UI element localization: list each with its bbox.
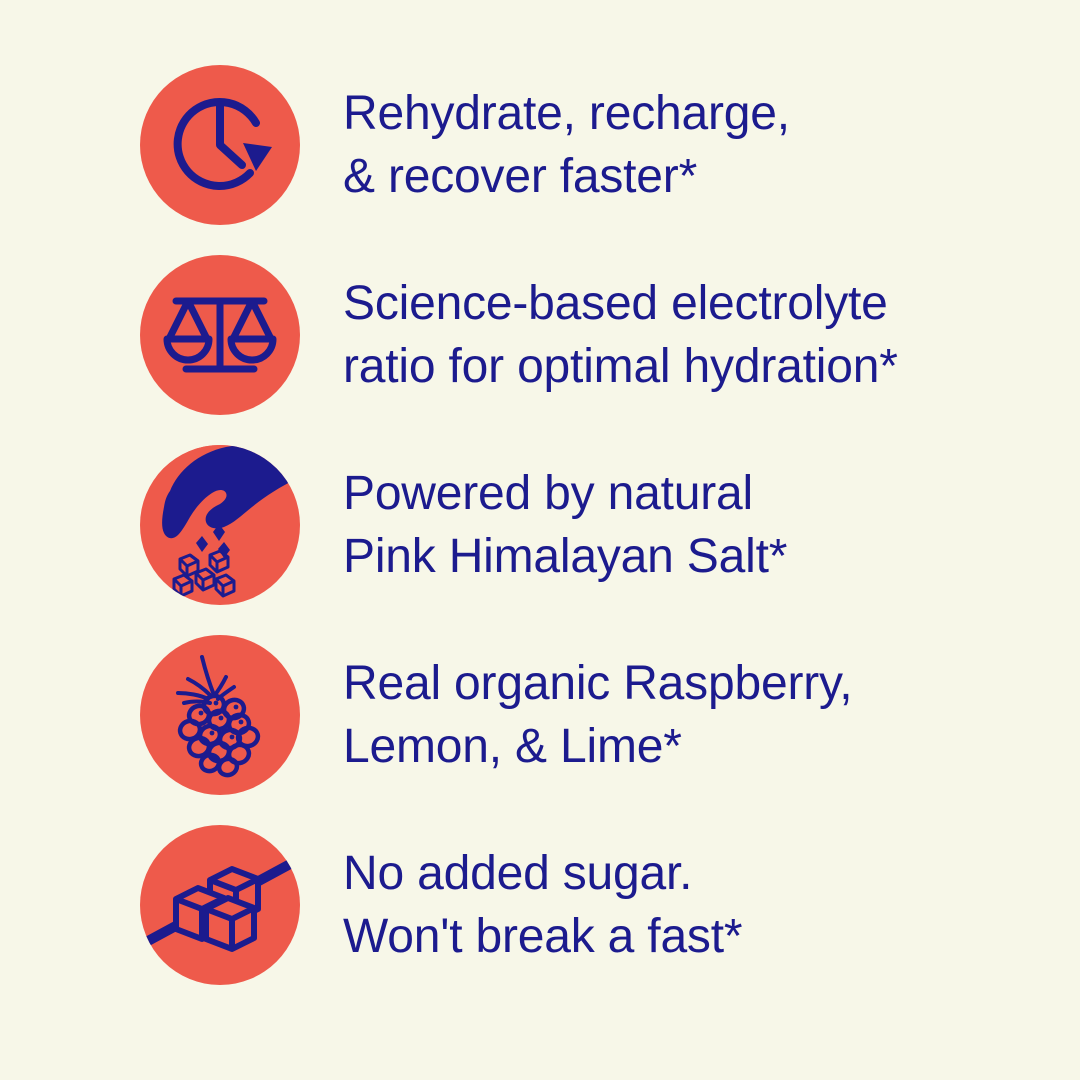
benefit-line-2: Won't break a fast*	[343, 905, 742, 968]
benefit-item-no-sugar: No added sugar. Won't break a fast*	[140, 825, 1040, 985]
benefit-item-himalayan-salt: Powered by natural Pink Himalayan Salt*	[140, 445, 1040, 605]
benefit-text-no-sugar: No added sugar. Won't break a fast*	[343, 842, 742, 968]
benefit-line-1: No added sugar.	[343, 842, 742, 905]
benefit-item-rehydrate: Rehydrate, recharge, & recover faster*	[140, 65, 1040, 225]
benefit-line-2: Lemon, & Lime*	[343, 715, 852, 778]
benefit-line-1: Powered by natural	[343, 462, 787, 525]
benefit-line-2: Pink Himalayan Salt*	[343, 525, 787, 588]
benefit-text-rehydrate: Rehydrate, recharge, & recover faster*	[343, 82, 790, 208]
benefit-text-himalayan-salt: Powered by natural Pink Himalayan Salt*	[343, 462, 787, 588]
benefit-line-1: Rehydrate, recharge,	[343, 82, 790, 145]
benefit-line-1: Science-based electrolyte	[343, 272, 898, 335]
benefit-item-real-fruit: Real organic Raspberry, Lemon, & Lime*	[140, 635, 1040, 795]
hand-sprinkling-salt-icon	[140, 445, 300, 605]
benefit-line-2: ratio for optimal hydration*	[343, 335, 898, 398]
benefit-list: Rehydrate, recharge, & recover faster*	[140, 65, 1040, 985]
clock-refresh-icon	[140, 65, 300, 225]
raspberry-icon	[140, 635, 300, 795]
benefit-text-electrolyte-ratio: Science-based electrolyte ratio for opti…	[343, 272, 898, 398]
benefit-line-1: Real organic Raspberry,	[343, 652, 852, 715]
benefit-line-2: & recover faster*	[343, 145, 790, 208]
balance-scales-icon	[140, 255, 300, 415]
benefit-text-real-fruit: Real organic Raspberry, Lemon, & Lime*	[343, 652, 852, 778]
benefit-item-electrolyte-ratio: Science-based electrolyte ratio for opti…	[140, 255, 1040, 415]
benefits-panel: Rehydrate, recharge, & recover faster*	[0, 0, 1080, 1080]
no-sugar-cubes-icon	[140, 825, 300, 985]
